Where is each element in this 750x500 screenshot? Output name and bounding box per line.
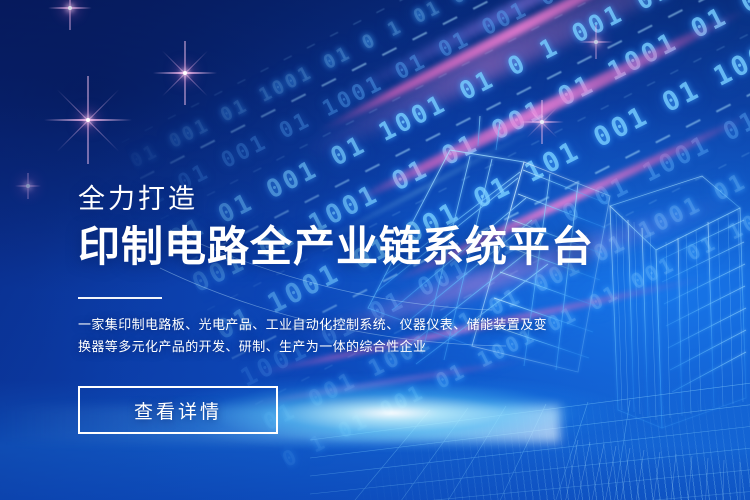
- star-sparkle-3: [48, 0, 92, 30]
- hero-banner: 01 001 01 1001 01 0 1 01 001 01 1001 1 0…: [0, 0, 750, 500]
- hero-content: 全力打造 印制电路全产业链系统平台 一家集印制电路板、光电产品、工业自动化控制系…: [78, 186, 678, 434]
- star-sparkle-4: [520, 100, 564, 144]
- hero-divider: [78, 297, 162, 299]
- hero-eyebrow: 全力打造: [78, 186, 678, 213]
- light-streak-soft-1: [293, 0, 750, 170]
- star-sparkle-6: [15, 173, 41, 199]
- view-details-button[interactable]: 查看详情: [78, 386, 278, 434]
- hero-headline: 印制电路全产业链系统平台: [78, 224, 678, 269]
- star-sparkle-1: [153, 41, 217, 105]
- light-streak-pink-2: [349, 4, 750, 209]
- light-streak-violet-1: [327, 0, 750, 108]
- light-streak-pink-1: [316, 0, 740, 136]
- hero-description: 一家集印制电路板、光电产品、工业自动化控制系统、仪器仪表、储能装置及变换器等多元…: [78, 314, 550, 358]
- star-sparkle-2: [44, 76, 132, 164]
- star-sparkle-5: [579, 25, 613, 59]
